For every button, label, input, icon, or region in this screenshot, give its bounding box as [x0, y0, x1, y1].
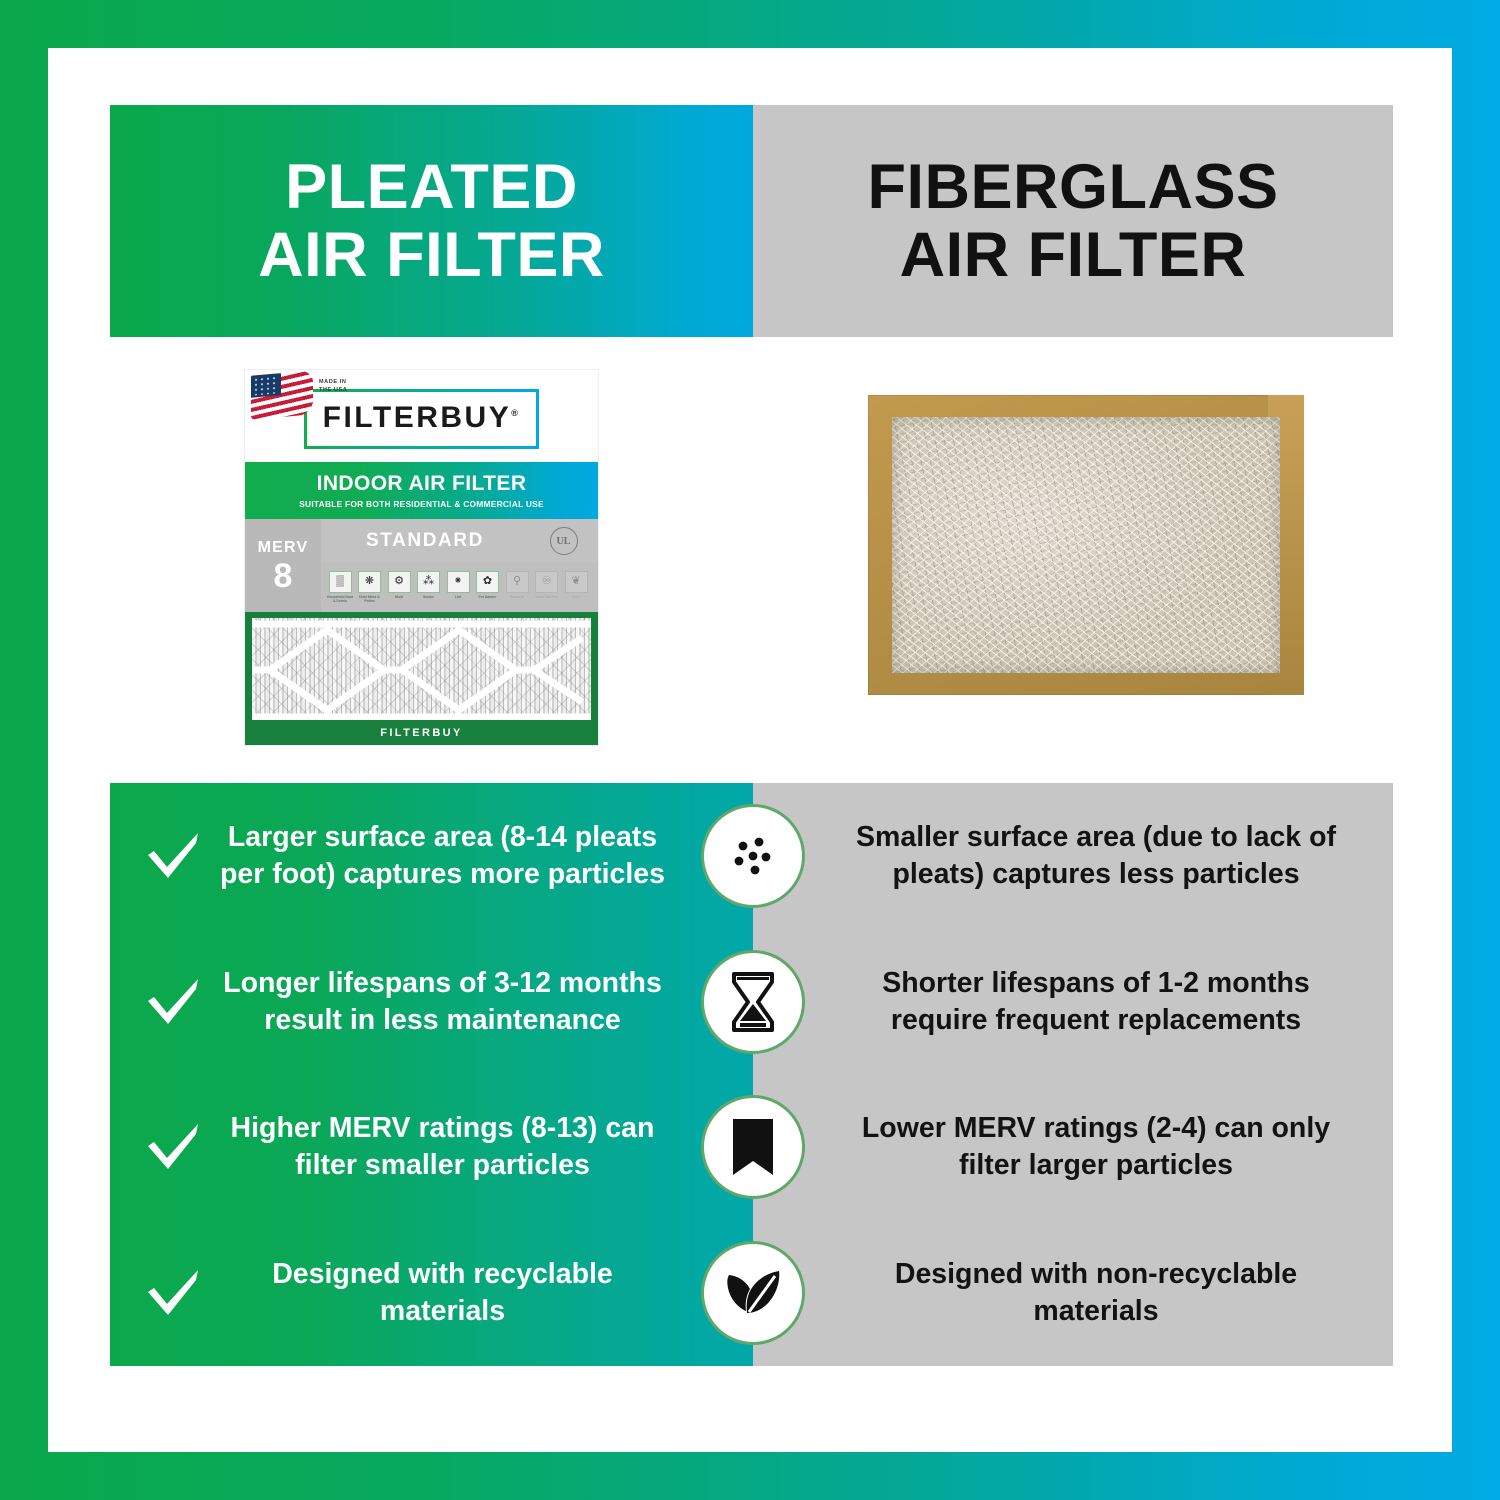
fiberglass-drawback-cell: Lower MERV ratings (2-4) can only filter…	[753, 1075, 1393, 1221]
particles-icon	[709, 812, 797, 900]
fiberglass-mesh-texture	[892, 417, 1280, 673]
odor-icon-caption: Odor	[563, 595, 589, 599]
checkmark-icon	[142, 827, 204, 885]
infographic-root: PLEATED AIR FILTER FIBERGLASS AIR FILTER…	[0, 0, 1500, 1500]
brand-logo-text: FILTERBUY®	[323, 401, 521, 435]
virus-carriers-icon-caption: Virus Carriers	[534, 595, 560, 599]
dust-mites-pollen-icon: ❋Dust Mites & Pollen	[357, 571, 383, 605]
pleated-benefit-cell: Larger surface area (8-14 pleats per foo…	[110, 783, 753, 929]
leaf-icon	[709, 1249, 797, 1337]
smoke-icon: ⁂Smoke	[416, 571, 442, 605]
pet-dander-icon-glyph: ✿	[476, 571, 499, 593]
mold-icon-glyph: ⚙	[388, 571, 411, 593]
bacteria-icon-caption: Bacteria	[504, 595, 530, 599]
header-fiberglass: FIBERGLASS AIR FILTER	[753, 105, 1393, 337]
dust-mites-pollen-icon-caption: Dust Mites & Pollen	[357, 595, 383, 604]
made-in-usa-label: MADE INTHE USA	[319, 379, 347, 395]
usa-flag-icon	[251, 370, 313, 419]
comparison-row: Longer lifespans of 3-12 months result i…	[110, 929, 1393, 1075]
product-band-subtitle: SUITABLE FOR BOTH RESIDENTIAL & COMMERCI…	[299, 499, 544, 509]
header-pleated: PLEATED AIR FILTER	[110, 105, 753, 337]
virus-carriers-icon: ♾Virus Carriers	[534, 571, 560, 605]
fiberglass-drawback-text: Designed with non-recyclable materials	[833, 1256, 1359, 1330]
checkmark-icon	[142, 973, 204, 1031]
lint-icon-caption: Lint	[445, 595, 471, 599]
brand-name: FILTERBUY	[323, 401, 512, 434]
fiberglass-filter-product-image	[868, 395, 1304, 695]
merv-badge: MERV 8	[245, 519, 321, 612]
household-dust-debris-icon: ▒Household Dust & Debris	[327, 571, 353, 605]
comparison-badge	[701, 1095, 805, 1199]
fiberglass-drawback-cell: Smaller surface area (due to lack of ple…	[753, 783, 1393, 929]
support-grid-icon	[252, 618, 591, 722]
merv-value: 8	[274, 559, 293, 593]
header-pleated-title: PLEATED AIR FILTER	[258, 153, 605, 289]
header-pleated-line1: PLEATED	[285, 152, 578, 222]
header-row: PLEATED AIR FILTER FIBERGLASS AIR FILTER	[110, 105, 1393, 337]
household-dust-debris-icon-glyph: ▒	[329, 571, 352, 593]
header-pleated-line2: AIR FILTER	[258, 221, 605, 289]
odor-icon: ❦Odor	[563, 571, 589, 605]
fiberglass-drawback-text: Lower MERV ratings (2-4) can only filter…	[833, 1110, 1359, 1184]
fiberglass-drawback-text: Shorter lifespans of 1-2 months require …	[833, 965, 1359, 1039]
bacteria-icon-glyph: ⚲	[506, 571, 529, 593]
ul-certification: UL	[529, 519, 598, 563]
product-footer-brand: FILTERBUY	[245, 720, 598, 745]
smoke-icon-glyph: ⁂	[417, 571, 440, 593]
bacteria-icon: ⚲Bacteria	[504, 571, 530, 605]
household-dust-debris-icon-caption: Household Dust & Debris	[327, 595, 353, 604]
header-fiberglass-line2: AIR FILTER	[867, 221, 1278, 289]
bookmark-icon	[709, 1103, 797, 1191]
pleat-texture	[252, 618, 591, 722]
fiberglass-drawback-cell: Shorter lifespans of 1-2 months require …	[753, 929, 1393, 1075]
comparison-row: Designed with recyclable materialsDesign…	[110, 1220, 1393, 1366]
odor-icon-glyph: ❦	[565, 571, 588, 593]
product-image-zone: MADE INTHE USA FILTERBUY® INDOOR AIR FIL…	[110, 345, 1393, 770]
fiberglass-drawback-cell: Designed with non-recyclable materials	[753, 1220, 1393, 1366]
comparison-badge	[701, 804, 805, 908]
comparison-badge	[701, 1241, 805, 1345]
header-fiberglass-title: FIBERGLASS AIR FILTER	[867, 153, 1278, 289]
fiberglass-drawback-text: Smaller surface area (due to lack of ple…	[833, 819, 1359, 893]
pleated-media-window: FILTERBUY	[245, 612, 598, 745]
header-fiberglass-line1: FIBERGLASS	[867, 152, 1278, 222]
comparison-section: Larger surface area (8-14 pleats per foo…	[110, 783, 1393, 1366]
comparison-badge	[701, 950, 805, 1054]
capability-icon-strip: ▒Household Dust & Debris❋Dust Mites & Po…	[321, 563, 598, 612]
product-grade-label: STANDARD	[321, 519, 529, 563]
dust-mites-pollen-icon-glyph: ❋	[358, 571, 381, 593]
mold-icon-caption: Mold	[386, 595, 412, 599]
product-spec-strip: MERV 8 STANDARD UL ▒Household Dust & Deb…	[245, 519, 598, 612]
hourglass-icon	[709, 958, 797, 1046]
lint-icon: ⁕Lint	[445, 571, 471, 605]
virus-carriers-icon-glyph: ♾	[535, 571, 558, 593]
lint-icon-glyph: ⁕	[447, 571, 470, 593]
product-box-header: MADE INTHE USA FILTERBUY®	[245, 370, 598, 462]
pet-dander-icon: ✿Pet Dander	[475, 571, 501, 605]
pleated-benefit-cell: Designed with recyclable materials	[110, 1220, 753, 1366]
comparison-row: Larger surface area (8-14 pleats per foo…	[110, 783, 1393, 929]
merv-label: MERV	[258, 539, 309, 557]
pleated-benefit-text: Designed with recyclable materials	[210, 1256, 675, 1330]
checkmark-icon	[142, 1264, 204, 1322]
pet-dander-icon-caption: Pet Dander	[475, 595, 501, 599]
ul-logo-icon: UL	[550, 527, 578, 555]
comparison-rows: Larger surface area (8-14 pleats per foo…	[110, 783, 1393, 1366]
smoke-icon-caption: Smoke	[416, 595, 442, 599]
comparison-row: Higher MERV ratings (8-13) can filter sm…	[110, 1075, 1393, 1221]
pleated-benefit-cell: Longer lifespans of 3-12 months result i…	[110, 929, 753, 1075]
trademark-symbol: ®	[511, 408, 520, 418]
brand-logo-frame: FILTERBUY®	[304, 389, 540, 449]
pleated-benefit-text: Larger surface area (8-14 pleats per foo…	[210, 819, 675, 893]
mold-icon: ⚙Mold	[386, 571, 412, 605]
pleated-filter-product-image: MADE INTHE USA FILTERBUY® INDOOR AIR FIL…	[245, 370, 598, 745]
product-band: INDOOR AIR FILTER SUITABLE FOR BOTH RESI…	[245, 462, 598, 519]
pleated-benefit-text: Higher MERV ratings (8-13) can filter sm…	[210, 1110, 675, 1184]
pleated-benefit-text: Longer lifespans of 3-12 months result i…	[210, 965, 675, 1039]
checkmark-icon	[142, 1118, 204, 1176]
product-band-title: INDOOR AIR FILTER	[317, 472, 527, 496]
pleated-benefit-cell: Higher MERV ratings (8-13) can filter sm…	[110, 1075, 753, 1221]
